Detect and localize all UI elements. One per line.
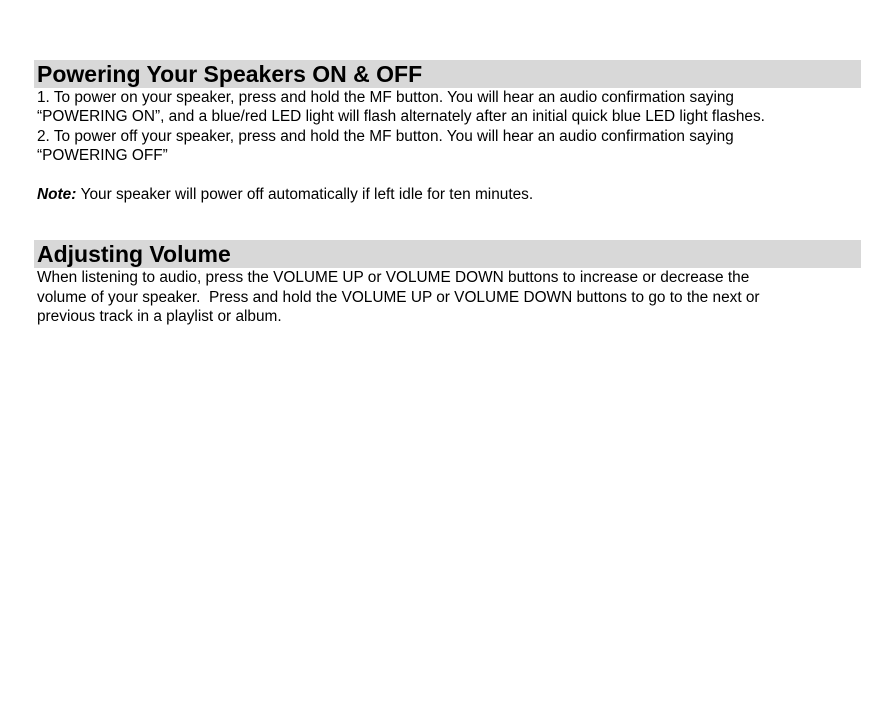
text-line: 2. To power off your speaker, press and … — [37, 127, 861, 146]
section-body-powering-speakers: 1. To power on your speaker, press and h… — [34, 88, 861, 204]
text-line: 1. To power on your speaker, press and h… — [37, 88, 861, 107]
note-label: Note: — [37, 186, 76, 203]
text-line: “POWERING OFF” — [37, 146, 861, 165]
paragraph-spacer — [37, 166, 861, 185]
note-text: Your speaker will power off automaticall… — [81, 186, 534, 203]
text-line: “POWERING ON”, and a blue/red LED light … — [37, 107, 861, 126]
paragraph-volume-instructions: When listening to audio, press the VOLUM… — [37, 268, 861, 326]
paragraph-power-steps: 1. To power on your speaker, press and h… — [37, 88, 861, 166]
text-line: volume of your speaker. Press and hold t… — [37, 288, 861, 307]
section-heading-powering-speakers: Powering Your Speakers ON & OFF — [34, 60, 861, 88]
text-line: When listening to audio, press the VOLUM… — [37, 268, 861, 287]
document-page: Powering Your Speakers ON & OFF 1. To po… — [0, 0, 887, 710]
text-line: previous track in a playlist or album. — [37, 307, 861, 326]
section-gap — [34, 204, 861, 240]
section-powering-speakers: Powering Your Speakers ON & OFF 1. To po… — [34, 60, 861, 204]
document-content: Powering Your Speakers ON & OFF 1. To po… — [34, 60, 861, 327]
section-adjusting-volume: Adjusting Volume When listening to audio… — [34, 240, 861, 326]
section-heading-adjusting-volume: Adjusting Volume — [34, 240, 861, 268]
section-body-adjusting-volume: When listening to audio, press the VOLUM… — [34, 268, 861, 326]
note-paragraph: Note: Your speaker will power off automa… — [37, 185, 861, 204]
